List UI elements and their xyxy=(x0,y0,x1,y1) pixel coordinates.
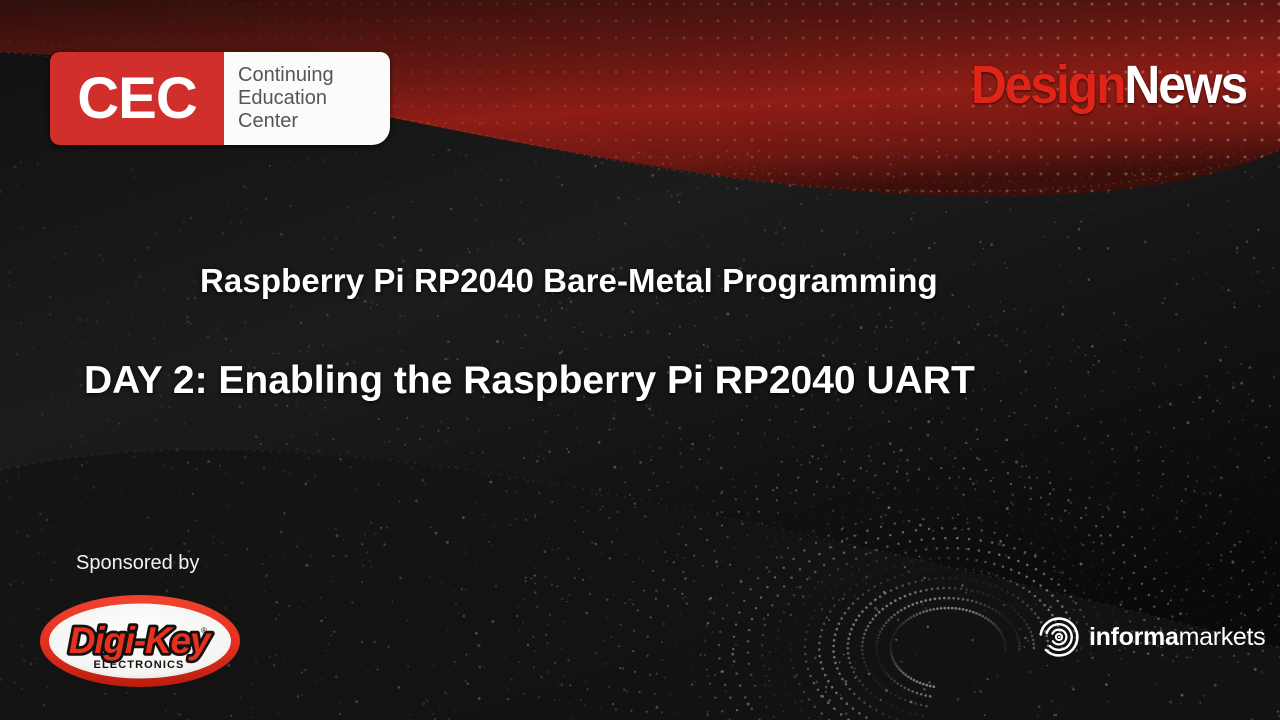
cec-logo-line-2: Education xyxy=(238,87,390,110)
cec-logo-mark-plate: CEC xyxy=(50,52,224,145)
informa-word: informa xyxy=(1089,623,1179,651)
cec-logo-line-1: Continuing xyxy=(238,64,390,87)
course-title: Raspberry Pi RP2040 Bare-Metal Programmi… xyxy=(200,262,938,300)
informa-spiral-icon xyxy=(1038,616,1080,658)
webinar-title-slide: CEC Continuing Education Center DesignNe… xyxy=(0,0,1280,720)
cec-logo-wordmark: Continuing Education Center xyxy=(224,52,390,145)
informa-markets-logo[interactable]: informamarkets xyxy=(1038,614,1265,660)
session-title: DAY 2: Enabling the Raspberry Pi RP2040 … xyxy=(84,357,1084,406)
design-news-logo-part-design: Design xyxy=(971,55,1124,115)
digikey-wordmark: Digi-Key xyxy=(69,620,213,661)
cec-logo[interactable]: CEC Continuing Education Center xyxy=(50,52,390,145)
sponsored-by-label: Sponsored by xyxy=(76,552,199,575)
digikey-tagline: ELECTRONICS xyxy=(94,659,185,671)
cec-logo-mark: CEC xyxy=(77,70,196,128)
design-news-logo[interactable]: DesignNews xyxy=(971,58,1246,112)
design-news-logo-part-news: News xyxy=(1124,55,1246,115)
markets-word: markets xyxy=(1179,623,1266,651)
digikey-registered-mark: ® xyxy=(201,626,207,635)
cec-logo-line-3: Center xyxy=(238,110,390,133)
digikey-logo[interactable]: Digi-Key Digi-Key ® ELECTRONICS xyxy=(38,592,243,690)
informa-markets-wordmark: informamarkets xyxy=(1089,625,1265,650)
